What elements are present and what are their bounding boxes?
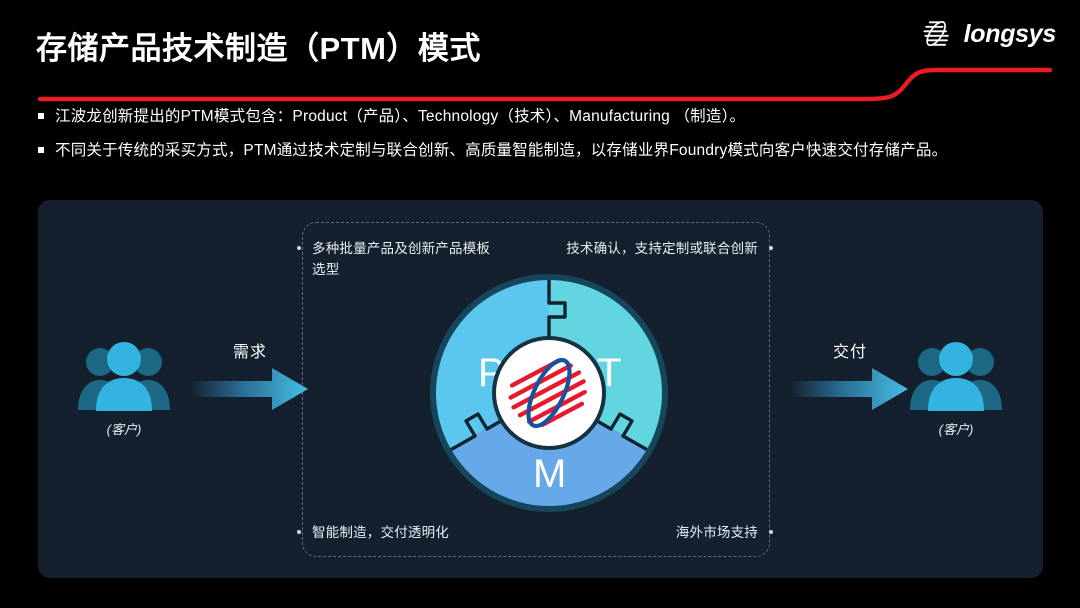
actor-right: (客户) xyxy=(898,340,1014,438)
label-bottom-right: 海外市场支持 xyxy=(558,522,774,543)
bullet-dot-icon xyxy=(769,530,773,534)
label-top-right: 技术确认，支持定制或联合创新 xyxy=(558,238,774,259)
slide-root: 存储产品技术制造（PTM）模式 longsys 江波龙创新提出的PTM模式包含：… xyxy=(0,0,1080,608)
flow-arrow-left: 需求 xyxy=(190,340,310,418)
list-item: 不同关于传统的采买方式，PTM通过技术定制与联合创新、高质量智能制造，以存储业界… xyxy=(36,138,1048,163)
bullet-dot-icon xyxy=(769,246,773,250)
bullet-marker-icon xyxy=(38,147,44,153)
people-group-icon xyxy=(76,340,172,412)
label-text: 技术确认，支持定制或联合创新 xyxy=(566,241,758,256)
label-text: 智能制造，交付透明化 xyxy=(312,525,449,540)
wheel-letter-m: M xyxy=(533,452,566,496)
arrow-right-icon xyxy=(190,366,310,412)
actor-label: (客户) xyxy=(898,419,1014,438)
bullet-dot-icon xyxy=(297,530,301,534)
bullet-marker-icon xyxy=(38,113,44,119)
bullet-dot-icon xyxy=(297,246,301,250)
arrow-label: 需求 xyxy=(190,338,310,362)
people-group-icon xyxy=(908,340,1004,412)
header-accent-line xyxy=(0,52,1080,104)
brand-logo: longsys xyxy=(919,16,1056,52)
label-text: 海外市场支持 xyxy=(676,525,758,540)
label-bottom-left: 智能制造，交付透明化 xyxy=(296,522,522,543)
logo-wordmark: longsys xyxy=(964,22,1056,47)
actor-left: (客户) xyxy=(66,340,182,438)
bullet-text: 不同关于传统的采买方式，PTM通过技术定制与联合创新、高质量智能制造，以存储业界… xyxy=(55,142,947,159)
arrow-right-icon xyxy=(790,366,910,412)
bullet-text: 江波龙创新提出的PTM模式包含：Product（产品）、Technology（技… xyxy=(55,108,745,125)
actor-label: (客户) xyxy=(66,419,182,438)
arrow-label: 交付 xyxy=(790,338,910,362)
longsys-hatched-emblem-icon xyxy=(919,16,955,52)
flow-arrow-right: 交付 xyxy=(790,340,910,418)
list-item: 江波龙创新提出的PTM模式包含：Product（产品）、Technology（技… xyxy=(36,104,1048,129)
ptm-wheel: P T M xyxy=(425,269,673,517)
bullet-list: 江波龙创新提出的PTM模式包含：Product（产品）、Technology（技… xyxy=(36,104,1048,172)
